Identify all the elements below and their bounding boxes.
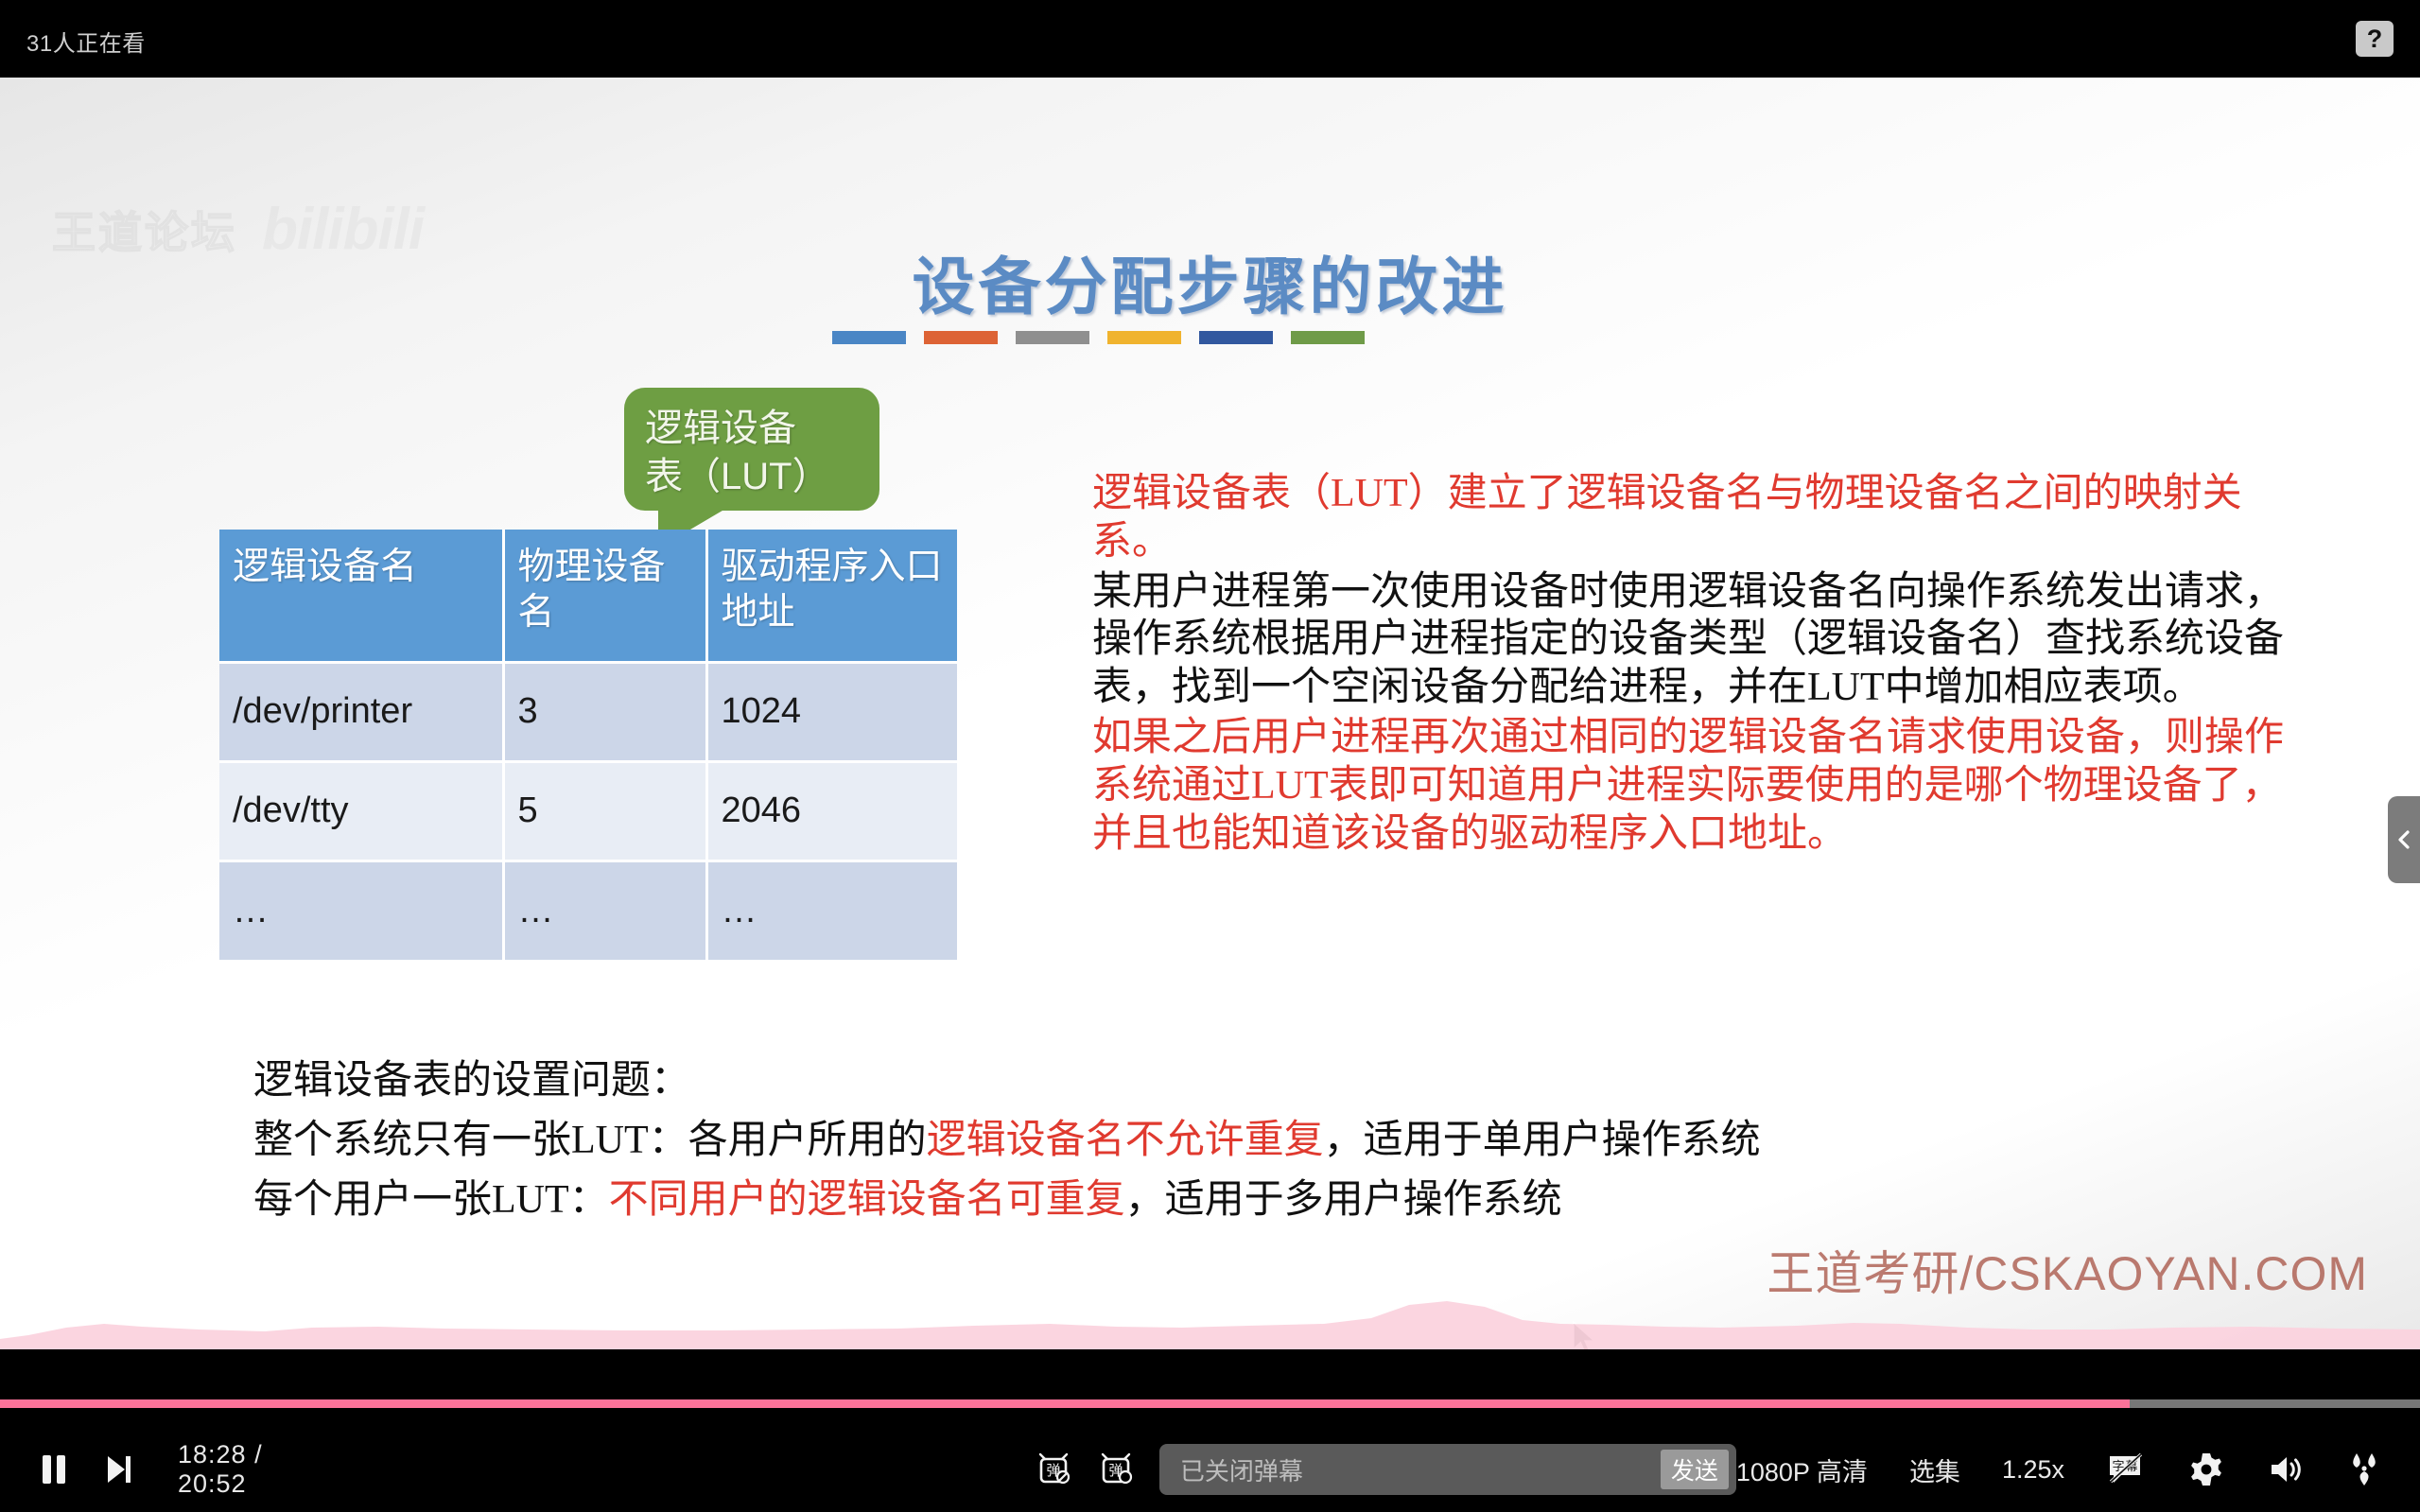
callout-line-1: 逻辑设备 — [645, 405, 859, 453]
callout-line-2: 表（LUT） — [645, 453, 859, 501]
danmaku-config-icon: 弹 — [1097, 1451, 1135, 1488]
note-line-2-b: ，适用于单用户操作系统 — [1324, 1119, 1761, 1162]
danmaku-off-icon[interactable]: 弹 — [1035, 1451, 1072, 1488]
note-line-2-highlight: 逻辑设备名不允许重复 — [927, 1119, 1324, 1162]
gear-icon — [2187, 1451, 2225, 1488]
table-cell: 5 — [503, 761, 706, 860]
title-bar-2 — [924, 331, 998, 344]
title-underline-bars — [832, 331, 1365, 344]
note-line-3-highlight: 不同用户的逻辑设备名可重复 — [609, 1178, 1125, 1222]
fullscreen-button[interactable] — [2346, 1451, 2382, 1487]
top-status-bar: 31人正在看 ? — [0, 0, 2420, 78]
brand-watermark: 王道考研/CSKAOYAN.COM — [1767, 1236, 2368, 1304]
paragraph-3: 如果之后用户进程再次通过相同的逻辑设备名请求使用设备，则操作系统通过LUT表即可… — [1092, 714, 2284, 858]
danmaku-placeholder: 已关闭弹幕 — [1180, 1452, 1661, 1487]
title-bar-1 — [832, 331, 906, 344]
danmaku-disabled-icon: 弹 — [1035, 1451, 1072, 1488]
sidebar-collapse-toggle[interactable] — [2388, 796, 2420, 883]
table-cell: 3 — [503, 662, 706, 761]
table-cell: 2046 — [706, 761, 957, 860]
table-cell: … — [706, 860, 957, 960]
note-line-2: 整个系统只有一张LUT：各用户所用的逻辑设备名不允许重复，适用于单用户操作系统 — [253, 1111, 2145, 1171]
table-header-row: 逻辑设备名 物理设备名 驱动程序入口地址 — [219, 530, 957, 662]
pause-button[interactable] — [38, 1451, 70, 1487]
danmaku-input[interactable]: 已关闭弹幕 发送 — [1159, 1444, 1736, 1495]
table-cell: … — [219, 860, 503, 960]
table-cell: … — [503, 860, 706, 960]
table-cell: /dev/tty — [219, 761, 503, 860]
video-stage[interactable]: 王道论坛 bilibili 设备分配步骤的改进 逻辑设备 表（LUT） — [0, 78, 2420, 1349]
table-header-cell: 物理设备名 — [503, 530, 706, 662]
table-header-cell: 逻辑设备名 — [219, 530, 503, 662]
chevron-left-icon — [2394, 826, 2413, 853]
progress-played — [0, 1399, 2130, 1408]
subtitle-toggle-button[interactable]: 字 幕 — [2106, 1452, 2146, 1486]
next-episode-button[interactable] — [102, 1451, 134, 1487]
table-header-cell: 驱动程序入口地址 — [706, 530, 957, 662]
playback-speed-button[interactable]: 1.25x — [2002, 1455, 2064, 1485]
table-cell: /dev/printer — [219, 662, 503, 761]
title-bar-3 — [1016, 331, 1089, 344]
lut-table: 逻辑设备名 物理设备名 驱动程序入口地址 /dev/printer 3 1024… — [219, 530, 957, 960]
settings-button[interactable] — [2187, 1451, 2225, 1488]
paragraph-1: 逻辑设备表（LUT）建立了逻辑设备名与物理设备名之间的映射关系。 — [1092, 470, 2284, 566]
paragraph-2: 某用户进程第一次使用设备时使用逻辑设备名向操作系统发出请求，操作系统根据用户进程… — [1092, 568, 2284, 712]
title-bar-6 — [1291, 331, 1365, 344]
note-line-3-a: 每个用户一张LUT： — [253, 1178, 609, 1222]
slide-title: 设备分配步骤的改进 — [0, 236, 2420, 327]
lut-callout: 逻辑设备 表（LUT） — [624, 388, 879, 511]
video-player-page: 31人正在看 ? 王道论坛 bilibili 设备分配步骤的改进 逻辑设备 — [0, 0, 2420, 1512]
note-block: 逻辑设备表的设置问题： 整个系统只有一张LUT：各用户所用的逻辑设备名不允许重复… — [253, 1051, 2145, 1230]
table-row: /dev/tty 5 2046 — [219, 761, 957, 860]
help-icon[interactable]: ? — [2356, 21, 2394, 57]
viewer-count-label: 31人正在看 — [26, 25, 146, 58]
next-track-icon — [102, 1451, 134, 1487]
note-line-2-a: 整个系统只有一张LUT：各用户所用的 — [253, 1119, 927, 1162]
note-line-3: 每个用户一张LUT：不同用户的逻辑设备名可重复，适用于多用户操作系统 — [253, 1171, 2145, 1230]
episode-list-button[interactable]: 选集 — [1909, 1451, 1960, 1488]
table-row: … … … — [219, 860, 957, 960]
mouse-cursor — [1570, 1321, 1598, 1349]
note-heading: 逻辑设备表的设置问题： — [253, 1051, 2145, 1111]
explanation-paragraphs: 逻辑设备表（LUT）建立了逻辑设备名与物理设备名之间的映射关系。 某用户进程第一… — [1092, 470, 2284, 860]
title-bar-5 — [1199, 331, 1273, 344]
table-row: /dev/printer 3 1024 — [219, 662, 957, 761]
volume-button[interactable] — [2267, 1452, 2305, 1486]
widescreen-icon — [2346, 1451, 2382, 1487]
table-cell: 1024 — [706, 662, 957, 761]
slide-content: 王道论坛 bilibili 设备分配步骤的改进 逻辑设备 表（LUT） — [0, 78, 2420, 1349]
quality-selector[interactable]: 1080P 高清 — [1736, 1451, 1868, 1488]
subtitle-off-icon: 字 幕 — [2106, 1452, 2146, 1486]
player-control-bar: 18:28 / 20:52 弹 弹 — [0, 1427, 2420, 1512]
title-bar-4 — [1107, 331, 1181, 344]
volume-icon — [2267, 1452, 2305, 1486]
time-display: 18:28 / 20:52 — [178, 1440, 306, 1499]
note-line-3-b: ，适用于多用户操作系统 — [1125, 1178, 1562, 1222]
progress-bar[interactable] — [0, 1399, 2420, 1409]
send-danmaku-button[interactable]: 发送 — [1661, 1450, 1729, 1489]
danmaku-settings-icon[interactable]: 弹 — [1097, 1451, 1135, 1488]
pause-icon — [38, 1451, 70, 1487]
